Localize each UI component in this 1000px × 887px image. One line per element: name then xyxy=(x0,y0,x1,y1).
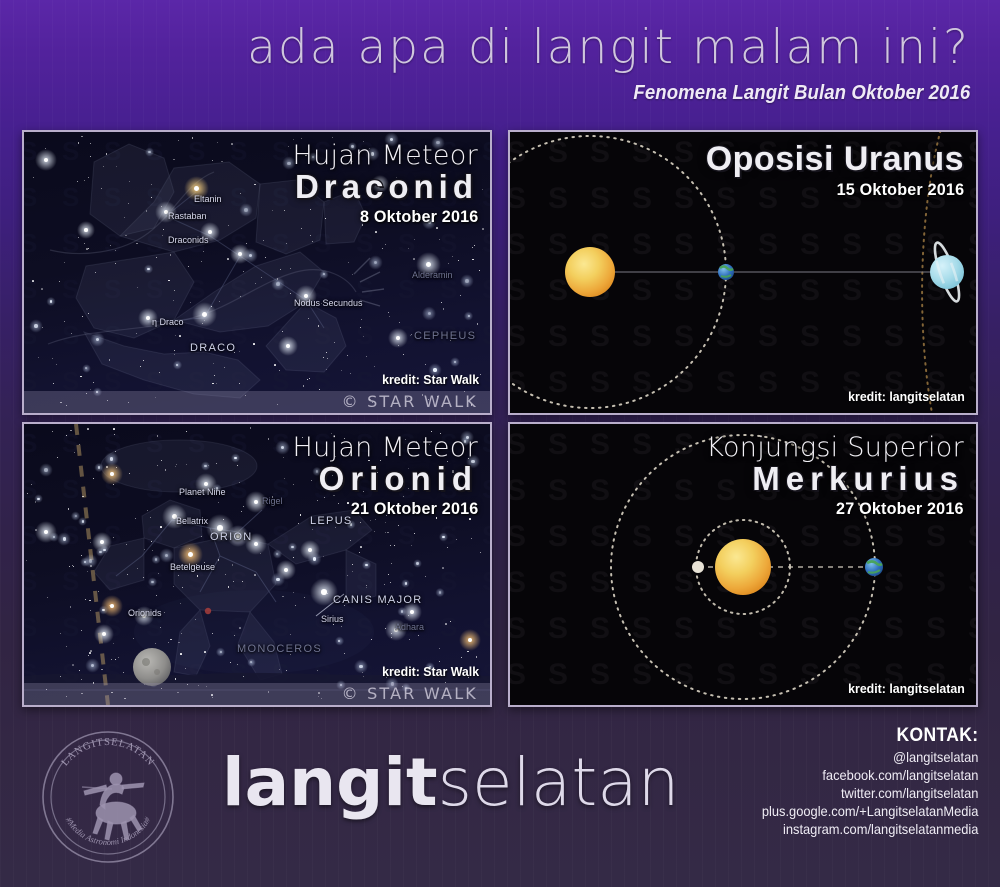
starwalk-watermark-text: © STAR WALK xyxy=(342,392,478,411)
panel-title-block-uranus: Oposisi Uranus 15 Oktober 2016 xyxy=(706,142,964,200)
panel-title-block-merkurius: Konjungsi Superior Merkurius 27 Oktober … xyxy=(706,434,964,519)
page-subtitle: Fenomena Langit Bulan Oktober 2016 xyxy=(633,82,970,105)
panel-kicker: Konjungsi Superior xyxy=(706,434,964,462)
starwalk-watermark-text: © STAR WALK xyxy=(342,684,478,703)
star-label-orionids: Orionids xyxy=(128,608,162,618)
panel-title: Draconid xyxy=(293,169,478,205)
panel-credit: kredit: Star Walk xyxy=(382,664,479,679)
contact-google-plus[interactable]: plus.google.com/+LangitselatanMedia xyxy=(761,803,978,819)
panel-credit: kredit: Star Walk xyxy=(382,372,479,387)
poster-footer: LANGITSELATAN #Media Astronomi Indonesia… xyxy=(0,703,1000,887)
constellation-label-cepheus: CEPHEUS xyxy=(414,330,476,342)
panel-date: 8 Oktober 2016 xyxy=(302,207,478,227)
contact-instagram[interactable]: instagram.com/langitselatanmedia xyxy=(761,821,978,837)
earth-body xyxy=(718,264,734,280)
star-label-sirius: Sirius xyxy=(321,614,344,624)
page-title: ada apa di langit malam ini? xyxy=(247,20,970,75)
poster-root: ada apa di langit malam ini? Fenomena La… xyxy=(0,0,1000,887)
panel-date: 27 Oktober 2016 xyxy=(719,499,964,519)
panel-date: 21 Oktober 2016 xyxy=(302,499,478,519)
panel-merkurius[interactable]: SSSSSSSSSSSSSSSSSSSSSSSSSSSSSSSSSSSSSSSS… xyxy=(508,422,978,707)
poster-header: ada apa di langit malam ini? Fenomena La… xyxy=(0,0,1000,120)
contact-heading: KONTAK: xyxy=(761,725,978,747)
panel-uranus[interactable]: SSSSSSSSSSSSSSSSSSSSSSSSSSSSSSSSSSSSSSSS… xyxy=(508,130,978,415)
star-label-adhara: Adhara xyxy=(395,622,424,632)
sun-body xyxy=(715,539,771,595)
star-label-betelgeuse: Betelgeuse xyxy=(170,562,215,572)
langitselatan-logo[interactable]: LANGITSELATAN #Media Astronomi Indonesia… xyxy=(40,729,176,865)
sun-body xyxy=(565,247,615,297)
star-label-rigel: Rigel xyxy=(262,496,283,506)
panel-title: Orionid xyxy=(293,461,478,497)
panel-credit: kredit: langitselatan xyxy=(848,681,965,696)
panel-title-block-orionid: Hujan Meteor Orionid 21 Oktober 2016 xyxy=(293,434,478,519)
panel-credit: kredit: langitselatan xyxy=(848,389,965,404)
star-label-rastaban: Rastaban xyxy=(168,211,207,221)
nebula-marker xyxy=(205,608,211,614)
starwalk-watermark-bar: © STAR WALK xyxy=(24,683,490,705)
starwalk-watermark-bar: © STAR WALK xyxy=(24,391,490,413)
constellation-label-orion: ORION xyxy=(210,531,253,543)
panel-title-block-draconid: Hujan Meteor Draconid 8 Oktober 2016 xyxy=(293,142,478,227)
constellation-label-draco: DRACO xyxy=(190,342,236,354)
contact-block: KONTAK: @langitselatan facebook.com/lang… xyxy=(743,725,978,837)
constellation-label-monoceros: MONOCEROS xyxy=(237,643,322,655)
star-label-draconids: Draconids xyxy=(168,235,209,245)
panel-date: 15 Oktober 2016 xyxy=(719,180,964,200)
star-label-planet-nine: Planet Nine xyxy=(179,487,226,497)
contact-handle[interactable]: @langitselatan xyxy=(761,749,978,765)
earth-body xyxy=(865,558,883,576)
star-label-eltanin: Eltanin xyxy=(194,194,222,204)
star-label-alderamin: Alderamin xyxy=(412,270,453,280)
star-label-bellatrix: Bellatrix xyxy=(176,516,208,526)
brand-wordmark: langitselatan xyxy=(222,750,680,816)
wordmark-light: selatan xyxy=(438,744,680,821)
mercury-body xyxy=(692,561,704,573)
panel-orionid[interactable]: SSSSSSSSSSSSSSSSSSSSSSSSSSSSSSSSSSSSSSSS… xyxy=(22,422,492,707)
star-label-eta-draco: η Draco xyxy=(152,317,184,327)
panel-kicker: Hujan Meteor xyxy=(293,142,478,170)
contact-twitter[interactable]: twitter.com/langitselatan xyxy=(761,785,978,801)
panel-title: Oposisi Uranus xyxy=(706,141,964,178)
uranus-body xyxy=(930,240,964,303)
star-label-nodus-secundus: Nodus Secundus xyxy=(294,298,363,308)
wordmark-bold: langit xyxy=(222,744,438,821)
panel-title: Merkurius xyxy=(706,461,964,497)
panel-draconid[interactable]: SSSSSSSSSSSSSSSSSSSSSSSSSSSSSSSSSSSSSSSS… xyxy=(22,130,492,415)
moon-body xyxy=(133,648,171,686)
contact-facebook[interactable]: facebook.com/langitselatan xyxy=(761,767,978,783)
constellation-label-canis-major: CANIS MAJOR xyxy=(333,594,422,606)
panel-kicker: Hujan Meteor xyxy=(293,434,478,462)
